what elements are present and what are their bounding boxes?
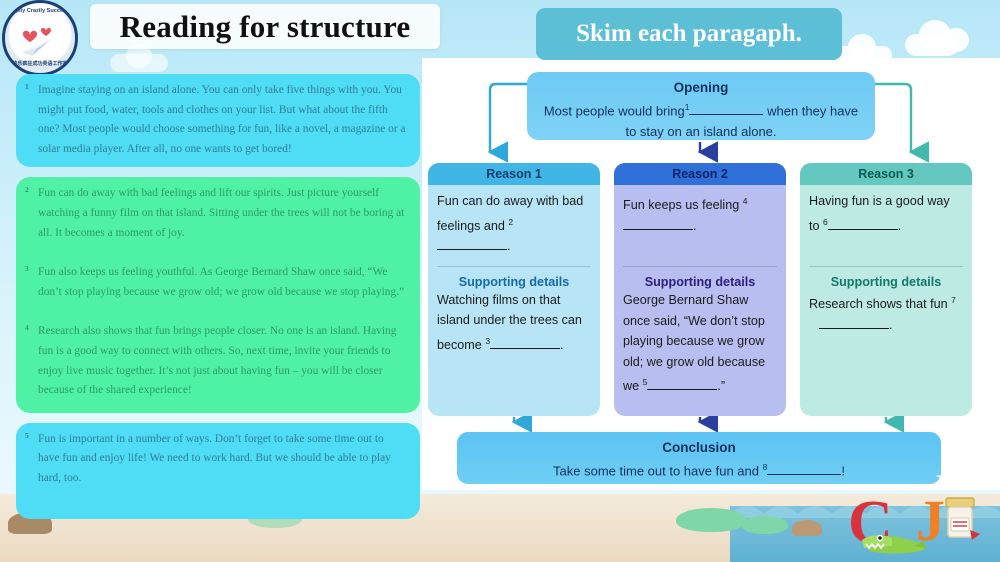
- reason-3-sd-blank[interactable]: [819, 328, 889, 329]
- paragraph-number: 4: [25, 322, 29, 334]
- conclusion-blank-number: 8: [763, 462, 768, 472]
- paragraph-2: 2 Fun can do away with bad feelings and …: [16, 177, 420, 251]
- reason-1-supporting-text: Watching films on that island under the …: [428, 290, 600, 356]
- reason-3-sd-before: Research shows that fun: [809, 297, 948, 311]
- opening-text: Most people would bring1 when they have …: [541, 97, 861, 142]
- paragraph-number: 3: [25, 263, 29, 275]
- reason-1-body-after: .: [507, 239, 511, 253]
- reason-2-sd-blank-number: 5: [643, 377, 648, 387]
- paragraph-3: 3 Fun also keeps us feeling youthful. As…: [16, 251, 420, 310]
- jam-jar-icon: [940, 494, 980, 544]
- conclusion-text-before: Take some time out to have fun and: [553, 463, 759, 478]
- reason-3-body: Having fun is a good way to 6.: [800, 185, 972, 236]
- reason-1-sd-after: .: [560, 338, 564, 352]
- paragraph-text: Fun also keeps us feeling youthful. As G…: [38, 266, 404, 298]
- ai-watermark: 万问AI生成: [936, 472, 994, 488]
- reason-3-supporting-text: Research shows that fun 7 .: [800, 290, 972, 335]
- reason-2-blank-number: 4: [743, 196, 748, 206]
- paragraph-5: 5 Fun is important in a number of ways. …: [16, 423, 420, 519]
- paragraph-number: 1: [25, 81, 29, 93]
- reason-1-header: Reason 1: [428, 163, 600, 185]
- bush-right: [742, 516, 788, 534]
- reason-2-box: Reason 2 Fun keeps us feeling 4 . Suppor…: [614, 163, 786, 416]
- paragraph-4: 4 Research also shows that fun brings pe…: [16, 310, 420, 412]
- paragraph-number: 5: [25, 430, 29, 442]
- reason-3-body-before: Having fun is a good way to: [809, 194, 950, 233]
- reason-2-header: Reason 2: [614, 163, 786, 185]
- reason-3-blank[interactable]: [828, 229, 898, 230]
- page-title: Reading for structure: [120, 9, 411, 45]
- paragraph-text: Fun is important in a number of ways. Do…: [38, 433, 391, 484]
- reason-3-blank-number: 6: [823, 217, 828, 227]
- reason-1-body: Fun can do away with bad feelings and 2 …: [428, 185, 600, 257]
- opening-title: Opening: [541, 79, 861, 97]
- school-logo-badge: Happily Crazily Successfully 快乐疯狂成功英语工作室: [2, 0, 78, 76]
- bush-mid: [676, 508, 746, 532]
- page-title-bar: Reading for structure: [90, 4, 440, 49]
- conclusion-box: Conclusion Take some time out to have fu…: [457, 432, 941, 484]
- reason-2-divider: [623, 266, 777, 267]
- opening-box: Opening Most people would bring1 when th…: [527, 72, 875, 140]
- skim-banner: Skim each paragaph.: [536, 8, 842, 60]
- reason-2-supporting-label: Supporting details: [614, 275, 786, 289]
- reason-2-body-before: Fun keeps us feeling: [623, 198, 739, 212]
- conclusion-text-after: !: [841, 463, 845, 478]
- paragraph-text: Research also shows that fun brings peop…: [38, 325, 396, 396]
- reason-3-divider: [809, 266, 963, 267]
- conclusion-text: Take some time out to have fun and 8!: [471, 457, 927, 481]
- logo-ring-top-text: Happily Crazily Successfully: [5, 8, 75, 14]
- reason-1-supporting-label: Supporting details: [428, 275, 600, 289]
- paragraph-text: Imagine staying on an island alone. You …: [38, 84, 406, 155]
- paragraph-number: 2: [25, 184, 29, 196]
- paragraph-1: 1 Imagine staying on an island alone. Yo…: [16, 74, 420, 167]
- reason-1-sd-blank[interactable]: [490, 348, 560, 349]
- skim-banner-text: Skim each paragaph.: [576, 20, 802, 48]
- reason-3-sd-after: .: [889, 318, 893, 332]
- reason-1-box: Reason 1 Fun can do away with bad feelin…: [428, 163, 600, 416]
- reason-2-blank[interactable]: [623, 229, 693, 230]
- slide-canvas: Happily Crazily Successfully 快乐疯狂成功英语工作室…: [0, 0, 1000, 562]
- conclusion-blank[interactable]: [767, 474, 841, 475]
- reason-1-blank[interactable]: [437, 249, 507, 250]
- opening-blank-number: 1: [685, 102, 690, 112]
- logo-ring-bottom-text: 快乐疯狂成功英语工作室: [5, 60, 75, 67]
- conclusion-title: Conclusion: [471, 438, 927, 457]
- rock-right: [792, 520, 822, 536]
- reason-1-sd-blank-number: 3: [485, 336, 490, 346]
- reading-passage-panel: 1 Imagine staying on an island alone. Yo…: [16, 74, 420, 521]
- opening-blank[interactable]: [689, 114, 763, 115]
- reason-1-divider: [437, 266, 591, 267]
- reason-1-blank-number: 2: [508, 217, 513, 227]
- reason-3-header: Reason 3: [800, 163, 972, 185]
- reason-3-body-after: .: [898, 219, 902, 233]
- opening-text-before: Most people would bring: [544, 103, 685, 118]
- reason-2-sd-after: .”: [717, 379, 725, 393]
- reason-3-box: Reason 3 Having fun is a good way to 6. …: [800, 163, 972, 416]
- reason-3-supporting-label: Supporting details: [800, 275, 972, 289]
- reason-2-sd-blank[interactable]: [647, 389, 717, 390]
- reason-2-body: Fun keeps us feeling 4 .: [614, 185, 786, 236]
- paragraph-text: Fun can do away with bad feelings and li…: [38, 187, 404, 238]
- reason-2-body-after: .: [693, 219, 697, 233]
- reason-2-supporting-text: George Bernard Shaw once said, “We don’t…: [614, 290, 786, 397]
- reason-3-sd-blank-number: 7: [951, 295, 956, 305]
- logo-hearts-plane-icon: [16, 19, 64, 59]
